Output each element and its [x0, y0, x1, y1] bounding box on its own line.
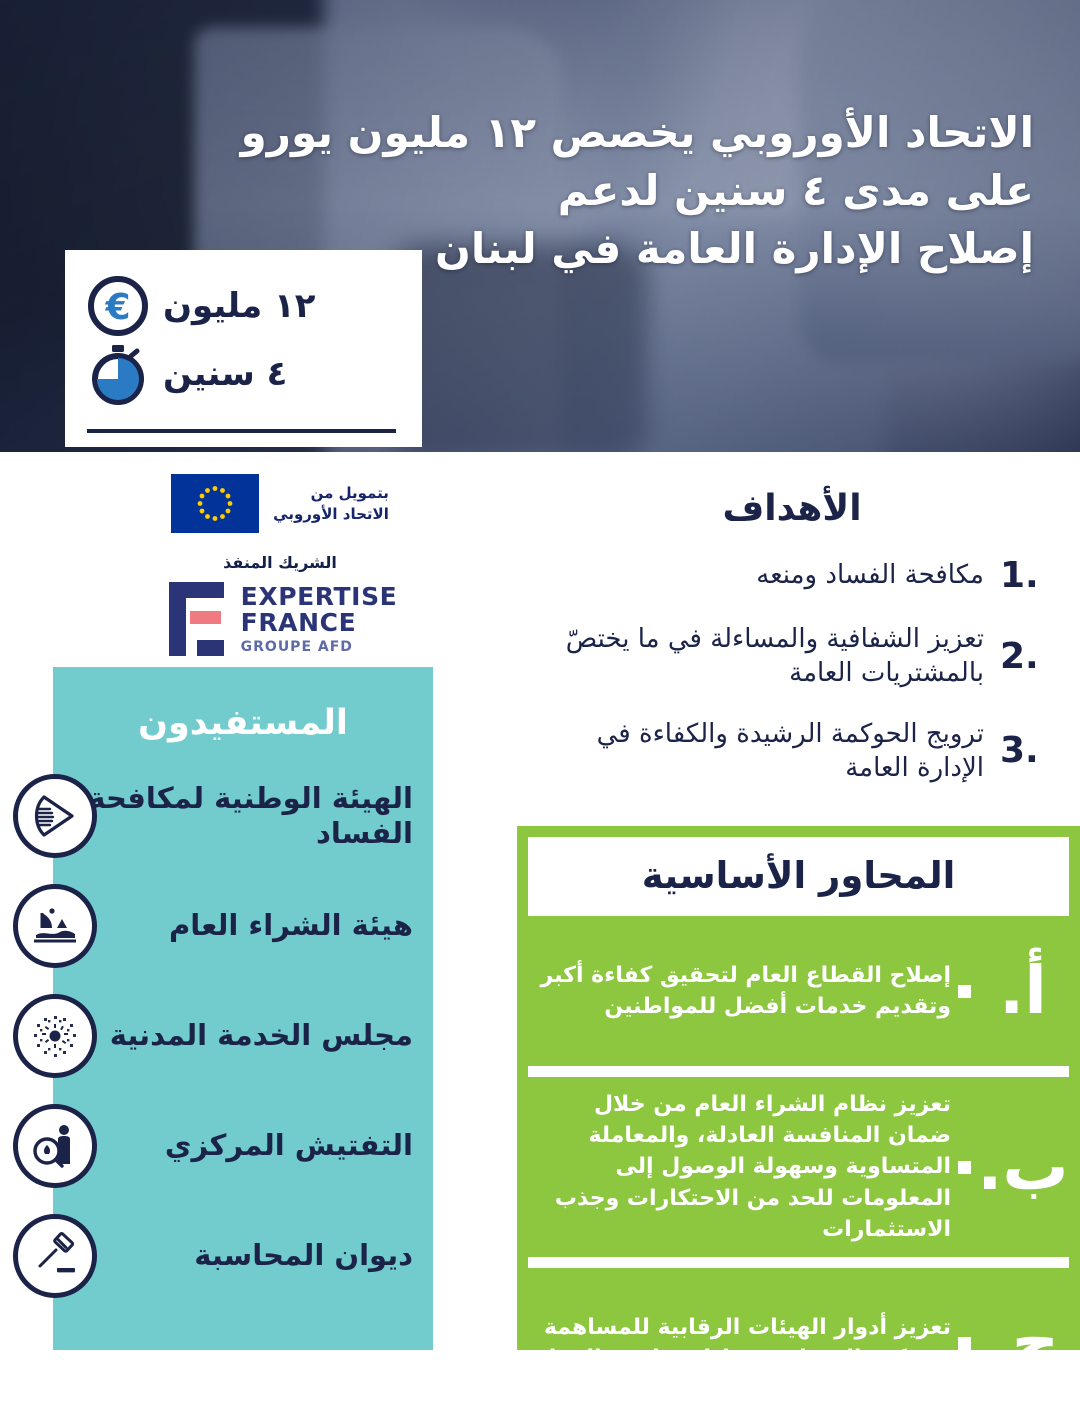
implementing-partner-caption: الشريك المنفذ — [130, 553, 430, 572]
objective-number: 3. — [1000, 730, 1052, 771]
list-item: الهيئة الوطنية لمكافحة الفساد — [53, 761, 433, 871]
beneficiary-label: مجلس الخدمة المدنية — [53, 1018, 413, 1053]
axis-text: إصلاح القطاع العام لتحقيق كفاءة أكبر وتق… — [528, 960, 951, 1022]
beneficiary-label: ديوان المحاسبة — [53, 1238, 413, 1273]
axis-bullet-icon — [951, 985, 977, 998]
key-figures-box: € ١٢ مليون ٤ سنين — [65, 250, 422, 447]
objective-text: تعزيز الشفافية والمساءلة في ما يختصّ بال… — [532, 622, 984, 691]
svg-text:€: € — [104, 287, 130, 328]
list-item: مجلس الخدمة المدنية — [53, 981, 433, 1091]
expertise-france-logo: EXPERTISE FRANCE GROUPE AFD — [130, 582, 430, 656]
axis-divider — [528, 1257, 1069, 1268]
key-figure-amount-label: ١٢ مليون — [163, 289, 316, 323]
main-axes-title: المحاور الأساسية — [528, 837, 1069, 916]
eu-funding-block: بتمويل من الاتحاد الأوروبي — [130, 474, 430, 533]
objective-item: 3. ترويج الحوكمة الرشيدة والكفاءة في الإ… — [532, 717, 1052, 786]
expertise-france-line-1: EXPERTISE — [241, 584, 398, 610]
euro-icon: € — [87, 275, 149, 337]
beneficiaries-title: المستفيدون — [53, 667, 433, 743]
public-procurement-icon — [13, 884, 97, 968]
objectives-title: الأهداف — [532, 488, 1052, 529]
objective-number: 1. — [1000, 555, 1052, 596]
axis-item: أ. إصلاح القطاع العام لتحقيق كفاءة أكبر … — [517, 916, 1080, 1066]
main-axes-title-box: المحاور الأساسية — [528, 837, 1069, 916]
eu-funding-caption-line-1: بتمويل من — [311, 484, 389, 502]
axis-text: تعزيز أدوار الهيئات الرقابية للمساهمة في… — [528, 1312, 951, 1374]
beneficiary-label: هيئة الشراء العام — [53, 908, 413, 943]
axis-bullet-icon — [951, 1337, 977, 1350]
axis-letter: ج. — [977, 1310, 1069, 1376]
axis-letter: أ. — [977, 958, 1069, 1024]
stopwatch-icon — [87, 343, 149, 405]
objective-text: ترويج الحوكمة الرشيدة والكفاءة في الإدار… — [532, 717, 984, 786]
objectives-section: الأهداف 1. مكافحة الفساد ومنعه 2. تعزيز … — [532, 488, 1052, 811]
objective-text: مكافحة الفساد ومنعه — [532, 558, 984, 592]
page-title-line-2: على مدى ٤ سنين لدعم — [264, 162, 1034, 220]
axis-bullet-icon — [951, 1161, 977, 1174]
axis-divider — [528, 1066, 1069, 1077]
funding-logos: بتمويل من الاتحاد الأوروبي الشريك المنفذ… — [130, 474, 430, 656]
expertise-france-wordmark: EXPERTISE FRANCE GROUPE AFD — [241, 584, 398, 655]
european-union-flag-icon — [171, 474, 259, 533]
inspection-icon — [13, 1104, 97, 1188]
axis-item: ج. تعزيز أدوار الهيئات الرقابية للمساهمة… — [517, 1268, 1080, 1418]
eu-funding-caption-line-2: الاتحاد الأوروبي — [273, 505, 389, 523]
civil-service-icon — [13, 994, 97, 1078]
beneficiary-label: الهيئة الوطنية لمكافحة الفساد — [53, 781, 413, 852]
main-axes-panel: المحاور الأساسية أ. إصلاح القطاع العام ل… — [517, 826, 1080, 1350]
key-figure-amount: € ١٢ مليون — [87, 272, 396, 340]
expertise-france-mark-icon — [163, 582, 227, 656]
page-title-line-1: الاتحاد الأوروبي يخصص ١٢ مليون يورو — [264, 104, 1034, 162]
key-figure-duration-label: ٤ سنين — [163, 357, 287, 391]
eu-funding-caption: بتمويل من الاتحاد الأوروبي — [273, 483, 389, 524]
expertise-france-line-2: FRANCE — [241, 610, 398, 636]
beneficiaries-list: الهيئة الوطنية لمكافحة الفساد هيئة الشرا… — [53, 761, 433, 1311]
key-figure-duration: ٤ سنين — [87, 340, 396, 408]
bow-and-arrow-icon — [13, 774, 97, 858]
beneficiary-label: التفتيش المركزي — [53, 1128, 413, 1163]
objective-number: 2. — [1000, 636, 1052, 677]
beneficiaries-panel: المستفيدون الهيئة الوطنية لمكافحة الفساد — [53, 667, 433, 1350]
expertise-france-line-3: GROUPE AFD — [241, 639, 398, 655]
objective-item: 1. مكافحة الفساد ومنعه — [532, 555, 1052, 596]
axis-item: ب. تعزيز نظام الشراء العام من خلال ضمان … — [517, 1077, 1080, 1257]
gavel-icon — [13, 1214, 97, 1298]
axis-letter: ب. — [977, 1134, 1069, 1200]
axis-text: تعزيز نظام الشراء العام من خلال ضمان الم… — [528, 1089, 951, 1245]
key-figures-divider — [87, 429, 396, 433]
objective-item: 2. تعزيز الشفافية والمساءلة في ما يختصّ … — [532, 622, 1052, 691]
list-item: هيئة الشراء العام — [53, 871, 433, 981]
list-item: التفتيش المركزي — [53, 1091, 433, 1201]
list-item: ديوان المحاسبة — [53, 1201, 433, 1311]
